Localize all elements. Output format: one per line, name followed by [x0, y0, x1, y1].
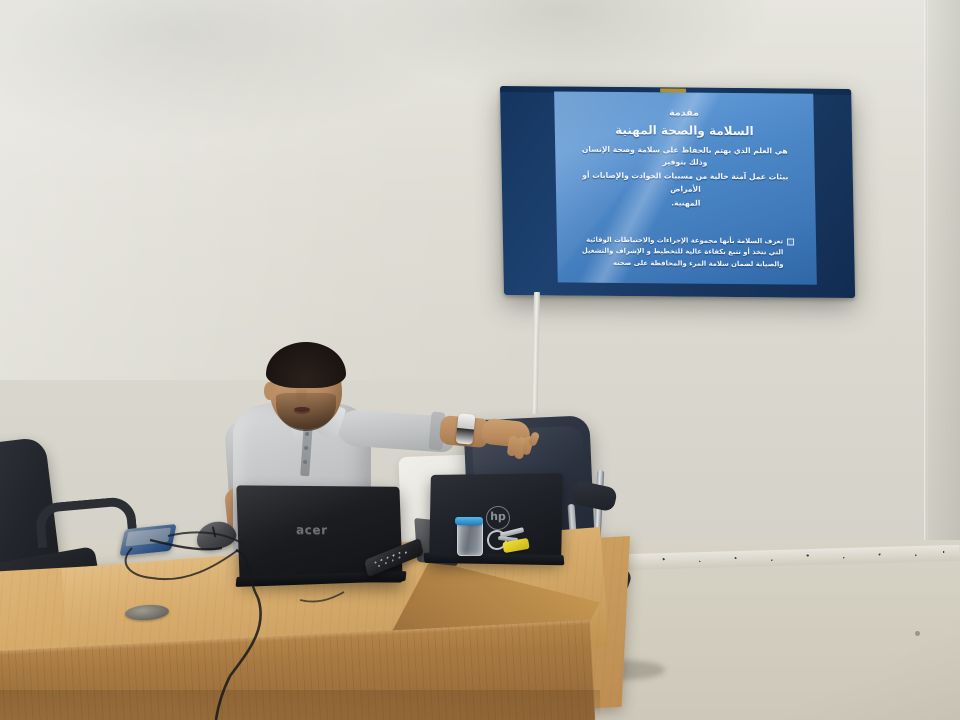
drinking-glass[interactable]: [457, 521, 483, 556]
keys-with-keychain[interactable]: [487, 528, 531, 548]
presenter-mouth: [294, 407, 310, 414]
desk-under-shadow: [0, 690, 600, 720]
meeting-room-photo: مقدمة السلامة والصحة المهنية هي العلم ال…: [0, 0, 960, 720]
presenter-ear: [264, 382, 275, 400]
presenter-nose: [296, 386, 307, 402]
glass-blue-cap: [455, 517, 483, 525]
presenter-hair: [266, 342, 346, 388]
acer-logo: acer: [296, 524, 342, 536]
smartphone-screen: [125, 528, 171, 547]
wristwatch: [455, 413, 475, 445]
